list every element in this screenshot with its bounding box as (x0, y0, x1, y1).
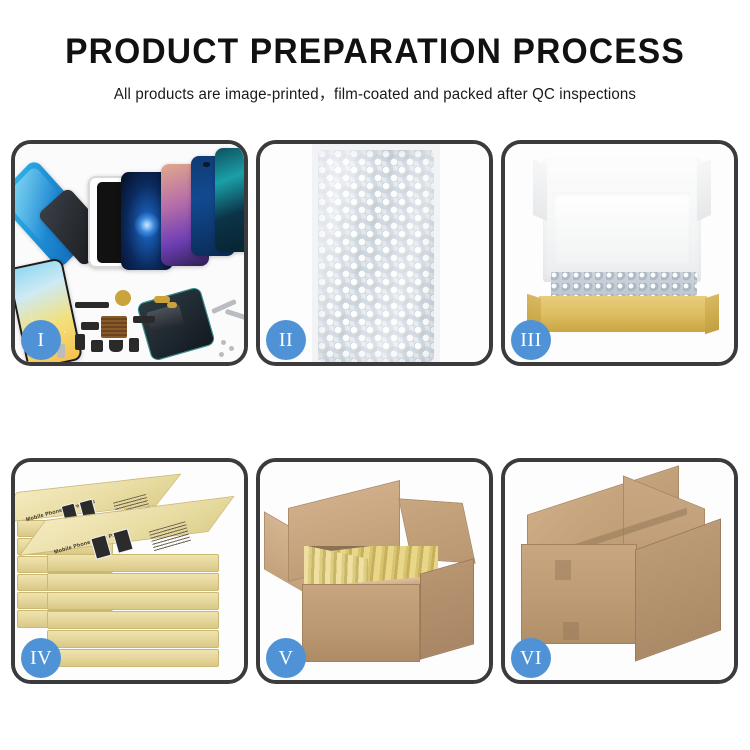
page-title: PRODUCT PREPARATION PROCESS (15, 34, 735, 71)
vibrator-part (75, 334, 85, 350)
sealed-carton-front-panel (521, 544, 637, 644)
mailer-box-front-panel (539, 296, 707, 332)
carton-side-panel (420, 558, 474, 659)
speaker-module-part (115, 290, 131, 306)
stacked-box (47, 554, 219, 572)
carton-handle-tab-lower (563, 622, 579, 640)
logic-board-part (101, 316, 127, 338)
ribbon-cable-part (133, 316, 155, 323)
process-step-5: V (256, 458, 493, 684)
page-header: PRODUCT PREPARATION PROCESS All products… (0, 0, 750, 104)
stacked-box (47, 611, 219, 629)
carton-handle-tab-upper (555, 560, 571, 580)
page-subtitle: All products are image-printed，film-coat… (11, 82, 739, 104)
stacked-box (47, 573, 219, 591)
teal-curved-phone (215, 148, 244, 252)
screw-part (229, 346, 234, 351)
step-badge-3: III (511, 320, 551, 360)
carton-front-panel (302, 584, 420, 662)
stacked-box (47, 649, 219, 667)
step-badge-4: IV (21, 638, 61, 678)
sim-tray-part (129, 338, 139, 352)
stacked-box (47, 592, 219, 610)
screw-part (219, 352, 224, 357)
step-badge-1: I (21, 320, 61, 360)
mailer-box-liner (553, 192, 691, 264)
process-step-grid: I II III (11, 140, 739, 684)
screw-part (221, 340, 226, 345)
small-gold-clip-part (167, 302, 177, 308)
flex-cable-part (75, 302, 109, 308)
process-step-2: II (256, 140, 493, 366)
product-preparation-page: PRODUCT PREPARATION PROCESS All products… (0, 0, 750, 750)
earpiece-mesh-part (109, 340, 123, 352)
stacked-box (47, 630, 219, 648)
step-badge-5: V (266, 638, 306, 678)
process-step-4: Mobile Phone Spare Parts Mobile Phone Sp… (11, 458, 248, 684)
step-badge-6: VI (511, 638, 551, 678)
camera-module-part (81, 322, 99, 330)
bubble-wrap-gloss (318, 150, 434, 362)
button-bracket-part (91, 340, 103, 352)
step-badge-2: II (266, 320, 306, 360)
process-step-1: I (11, 140, 248, 366)
process-step-6: VI (501, 458, 738, 684)
process-step-3: III (501, 140, 738, 366)
